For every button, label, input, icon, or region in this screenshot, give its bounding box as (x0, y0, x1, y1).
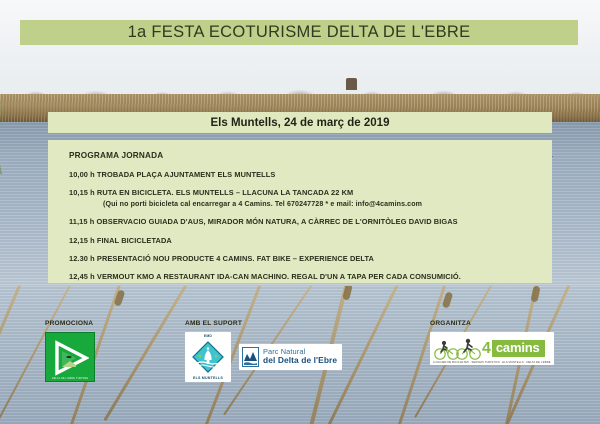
program-item: 10,15 h RUTA EN BICICLETA. ELS MUNTELLS … (69, 188, 552, 208)
sponsor-block-suport: AMB EL SUPORT EMD ELS MUNTELLS (185, 320, 342, 382)
program-heading: PROGRAMA JORNADA (69, 151, 552, 160)
parc-natural-text: Parc Natural del Delta de l'Ebre (263, 348, 337, 366)
program-item-text: 10,15 h RUTA EN BICICLETA. ELS MUNTELLS … (69, 188, 353, 197)
program-item-text: 12,45 h VERMOUT KMO A RESTAURANT IDA-CAN… (69, 272, 461, 281)
program-item-text: 10,00 h TROBADA PLAÇA AJUNTAMENT ELS MUN… (69, 170, 275, 179)
emd-els-muntells-logo: EMD ELS MUNTELLS (185, 332, 231, 382)
program-item-text: 12,15 h FINAL BICICLETADA (69, 236, 172, 245)
poster-canvas: 1a FESTA ECOTURISME DELTA DE L'EBRE Els … (0, 0, 600, 424)
program-item: 11,15 h OBSERVACIO GUIADA D'AUS, MIRADOR… (69, 217, 552, 226)
emd-top-text: EMD (185, 334, 231, 338)
promociona-logo: DELTA DE L'EBRE TURISME (45, 332, 95, 382)
parc-natural-logo: Parc Natural del Delta de l'Ebre (239, 344, 342, 370)
reed-seedhead (342, 286, 353, 301)
sponsor-block-promociona: PROMOCIONA DELTA DE L'EBRE TURISME (45, 320, 95, 382)
camins-logo: 4 camins LLOGUER DE BICICLETES · SERVEIS… (430, 332, 554, 365)
emd-bottom-text: ELS MUNTELLS (185, 376, 231, 380)
parc-natural-line2: del Delta de l'Ebre (263, 356, 337, 365)
program-item: 12,15 h FINAL BICICLETADA (69, 236, 552, 245)
hut-silhouette (346, 78, 357, 90)
camins-number: 4 (482, 341, 491, 357)
program-panel: PROGRAMA JORNADA 10,00 h TROBADA PLAÇA A… (48, 140, 552, 283)
program-item-note: (Qui no porti bicicleta cal encarregar a… (103, 200, 552, 209)
camins-caption: LLOGUER DE BICICLETES · SERVEIS TURISTIC… (433, 361, 551, 364)
program-item-text: 11,15 h OBSERVACIO GUIADA D'AUS, MIRADOR… (69, 217, 458, 226)
program-item: 12.30 h PRESENTACIÓ NOU PRODUCTE 4 CAMIN… (69, 254, 552, 263)
promociona-logo-caption: DELTA DE L'EBRE TURISME (46, 377, 94, 380)
play-triangle-logo-icon (53, 340, 89, 376)
program-item-text: 12.30 h PRESENTACIÓ NOU PRODUCTE 4 CAMIN… (69, 254, 374, 263)
cyclists-icon (432, 337, 484, 361)
reed-seedhead (530, 286, 540, 303)
program-list: 10,00 h TROBADA PLAÇA AJUNTAMENT ELS MUN… (48, 170, 552, 281)
page-title: 1a FESTA ECOTURISME DELTA DE L'EBRE (128, 23, 471, 42)
sponsor-block-organitza: ORGANITZA 4 camins LLOGUER DE BICICLETES… (430, 320, 554, 365)
reed-seedhead (442, 291, 454, 308)
event-date-band: Els Muntells, 24 de març de 2019 (48, 112, 552, 133)
sponsor-label-promociona: PROMOCIONA (45, 320, 95, 327)
poster-title-bar: 1a FESTA ECOTURISME DELTA DE L'EBRE (20, 20, 578, 45)
emd-shield-icon (192, 341, 224, 373)
parc-natural-mark-icon (242, 347, 259, 367)
sponsor-label-organitza: ORGANITZA (430, 320, 554, 327)
program-item: 10,00 h TROBADA PLAÇA AJUNTAMENT ELS MUN… (69, 170, 552, 179)
suport-logos-row: EMD ELS MUNTELLS (185, 332, 342, 382)
sponsor-label-suport: AMB EL SUPORT (185, 320, 342, 327)
camins-wordmark: camins (492, 340, 545, 357)
program-item: 12,45 h VERMOUT KMO A RESTAURANT IDA-CAN… (69, 272, 552, 281)
reed-stalk (0, 286, 30, 424)
event-date-text: Els Muntells, 24 de març de 2019 (211, 117, 390, 129)
